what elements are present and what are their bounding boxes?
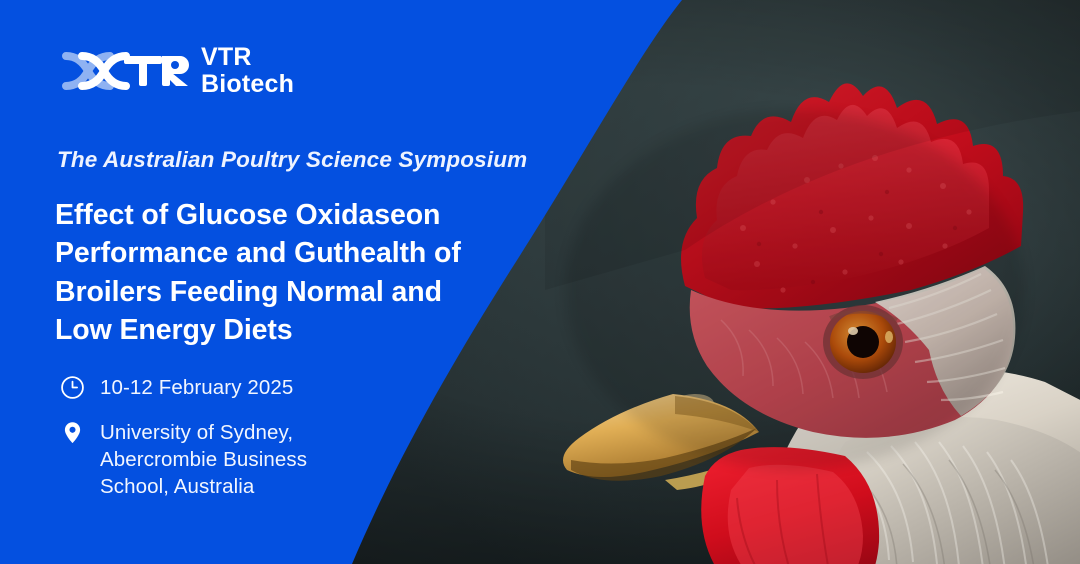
banner-title: Effect of Glucose Oxidaseon Performance … <box>55 196 525 349</box>
xtr-dna-logo-icon <box>62 46 190 96</box>
event-location-text: University of Sydney, Abercrombie Busine… <box>100 419 307 500</box>
event-name: The Australian Poultry Science Symposium <box>57 147 527 173</box>
location-line-2: Abercrombie Business <box>100 446 307 473</box>
clock-icon <box>60 375 85 400</box>
map-pin-icon <box>60 420 85 445</box>
event-date-value: 10-12 February 2025 <box>100 374 293 401</box>
brand-name-line2: Biotech <box>201 71 294 98</box>
brand-wordmark: VTR Biotech <box>201 44 294 97</box>
title-line-1: Effect of Glucose Oxidaseon <box>55 196 525 234</box>
title-line-4: Low Energy Diets <box>55 311 525 349</box>
brand-logo: VTR Biotech <box>62 44 294 97</box>
location-line-1: University of Sydney, <box>100 419 307 446</box>
event-date-text: 10-12 February 2025 <box>100 374 293 401</box>
title-line-3: Broilers Feeding Normal and <box>55 273 525 311</box>
event-date-row: 10-12 February 2025 <box>60 374 307 401</box>
location-line-3: School, Australia <box>100 473 307 500</box>
banner-content: VTR Biotech The Australian Poultry Scien… <box>0 0 560 564</box>
title-line-2: Performance and Guthealth of <box>55 234 525 272</box>
brand-name-line1: VTR <box>201 44 294 71</box>
rooster-head-photo <box>545 0 1080 564</box>
conference-banner: VTR Biotech The Australian Poultry Scien… <box>0 0 1080 564</box>
event-location-row: University of Sydney, Abercrombie Busine… <box>60 419 307 500</box>
event-details: 10-12 February 2025 University of Sydney… <box>60 374 307 500</box>
